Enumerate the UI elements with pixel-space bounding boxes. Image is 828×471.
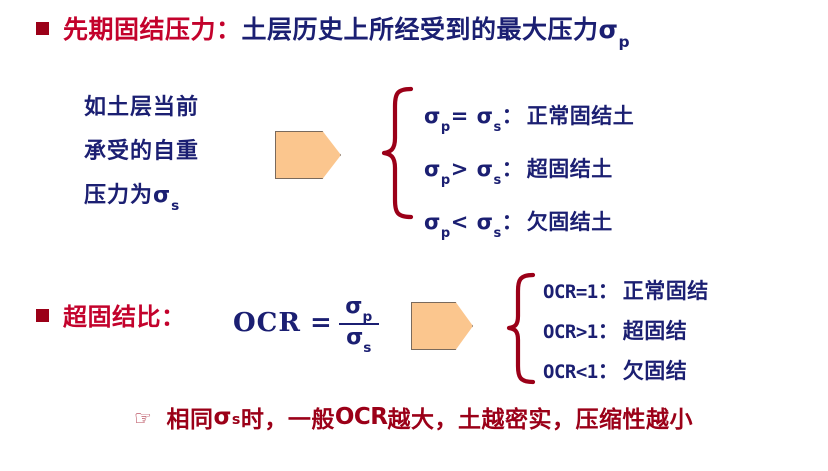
pressure-condition-label: 正常固结土: [527, 104, 635, 128]
ocr-equation: OCR = σp σs: [233, 293, 379, 352]
note-sigma-subscript: s: [232, 412, 241, 428]
ocr-condition-row: OCR<1：欠固结: [543, 352, 709, 392]
sigma-s-symbol: σ: [477, 210, 494, 234]
premise-line-3-prefix: 压力为: [84, 183, 153, 208]
ocr-conditions-list: OCR=1：正常固结 OCR>1：超固结 OCR<1：欠固结: [543, 272, 709, 392]
sigma-p-symbol: σ: [424, 210, 441, 234]
ocr-condition-label: 正常固结: [623, 279, 709, 303]
comparison-operator: >: [451, 157, 469, 181]
ocr-condition-expression: OCR<1: [543, 353, 598, 392]
ocr-condition-label: 欠固结: [623, 359, 688, 383]
heading-sigma-subscript: p: [619, 33, 631, 51]
ocr-equation-equals: =: [310, 308, 332, 338]
curly-brace-top-svg: [381, 86, 415, 220]
sigma-s-symbol: σ: [477, 157, 494, 181]
pressure-condition-row: σp> σs：超固结土: [424, 147, 634, 200]
ocr-condition-row: OCR=1：正常固结: [543, 272, 709, 312]
pressure-condition-expression: σp< σs：: [424, 200, 523, 253]
ocr-condition-label: 超固结: [623, 319, 688, 343]
premise-sigma-symbol: σ: [153, 183, 171, 208]
colon: ：: [502, 104, 523, 128]
colon: ：: [598, 279, 619, 303]
sigma-p-symbol: σ: [424, 104, 441, 128]
sigma-p-symbol: σ: [424, 157, 441, 181]
note-sigma-symbol: σ: [213, 404, 231, 430]
pressure-condition-expression: σp> σs：: [424, 147, 523, 200]
ocr-term: 超固结比：: [63, 303, 186, 331]
note-suffix: 越大，土越密实，压缩性越小: [388, 400, 694, 434]
sigma-s-subscript: s: [493, 120, 501, 135]
heading-sigma-symbol: σ: [599, 15, 619, 44]
pressure-condition-row: σp= σs：正常固结土: [424, 94, 634, 147]
pressure-conditions-list: σp= σs：正常固结土 σp> σs：超固结土 σp< σs：欠固结土: [424, 94, 634, 254]
footer-note: ☞相同σs 时，一般OCR越大，土越密实，压缩性越小: [134, 400, 693, 434]
premise-line-1: 如土层当前: [84, 86, 199, 130]
implies-arrow-bottom: [411, 302, 473, 350]
note-ocr: OCR: [335, 404, 388, 430]
implies-arrow-top: [275, 131, 341, 179]
ocr-condition-row: OCR>1：超固结: [543, 312, 709, 352]
sigma-s-symbol: σ: [477, 104, 494, 128]
pointing-hand-icon: ☞: [134, 406, 152, 430]
heading-term: 先期固结压力：: [63, 15, 242, 44]
numerator-sigma-subscript: p: [362, 309, 372, 325]
heading-overconsolidation-ratio: 超固结比：: [36, 297, 186, 332]
colon: ：: [502, 210, 523, 234]
pressure-condition-label: 超固结土: [527, 157, 613, 181]
premise-text-block: 如土层当前 承受的自重 压力为σs: [84, 86, 199, 225]
heading-definition: 土层历史上所经受到的最大压力: [242, 15, 599, 44]
pressure-condition-expression: σp= σs：: [424, 94, 523, 147]
comparison-operator: =: [451, 104, 469, 128]
curly-brace-bottom: [506, 272, 536, 385]
sigma-s-subscript: s: [493, 226, 501, 241]
colon: ：: [502, 157, 523, 181]
sigma-s-subscript: s: [493, 173, 501, 188]
bullet-square-icon: [36, 309, 49, 322]
note-prefix: 相同: [166, 400, 213, 434]
ocr-condition-expression: OCR=1: [543, 273, 598, 312]
premise-line-3: 压力为σs: [84, 174, 199, 225]
pressure-condition-label: 欠固结土: [527, 210, 613, 234]
slide-canvas: 先期固结压力：土层历史上所经受到的最大压力σp 如土层当前 承受的自重 压力为σ…: [0, 0, 828, 471]
ocr-equation-fraction: σp σs: [339, 294, 379, 353]
fraction-denominator: σs: [340, 325, 377, 354]
ocr-equation-lhs: OCR: [233, 308, 301, 338]
ocr-condition-expression: OCR>1: [543, 313, 598, 352]
fraction-numerator: σp: [339, 294, 378, 323]
denominator-sigma-symbol: σ: [346, 325, 363, 350]
numerator-sigma-symbol: σ: [345, 294, 362, 319]
sigma-p-subscript: p: [441, 226, 451, 241]
denominator-sigma-subscript: s: [363, 340, 371, 356]
curly-brace-top: [381, 86, 415, 220]
premise-sigma-subscript: s: [171, 198, 180, 214]
note-middle: 时，一般: [241, 400, 335, 434]
premise-line-2: 承受的自重: [84, 130, 199, 174]
curly-brace-bottom-svg: [506, 272, 536, 385]
sigma-p-subscript: p: [441, 173, 451, 188]
heading-preconsolidation-pressure: 先期固结压力：土层历史上所经受到的最大压力σp: [36, 16, 630, 48]
pressure-condition-row: σp< σs：欠固结土: [424, 200, 634, 253]
comparison-operator: <: [451, 210, 469, 234]
bullet-square-icon: [36, 22, 49, 35]
colon: ：: [598, 359, 619, 383]
sigma-p-subscript: p: [441, 120, 451, 135]
colon: ：: [598, 319, 619, 343]
